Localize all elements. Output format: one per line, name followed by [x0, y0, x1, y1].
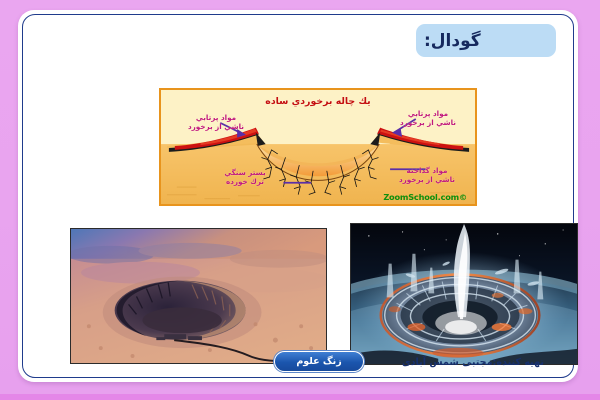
- diagram-label-ejecta-left-line2: ناشي از برخورد: [173, 122, 259, 131]
- diagram-label-molten-material: مواد گداخته ناشي از برخورد: [385, 166, 469, 184]
- diagram-label-ejecta-right-line1: مواد پرتابي: [387, 109, 469, 118]
- diagram-label-melt-line1: مواد گداخته: [385, 166, 469, 175]
- diagram-label-bedrock-line1: بستر سنگي: [203, 168, 287, 177]
- page-title: گودال:: [424, 31, 481, 51]
- science-class-button[interactable]: زنگ علوم: [274, 351, 364, 372]
- diagram-watermark: ©ZoomSchool.com: [383, 192, 467, 202]
- author-credit: تهیه کننده:مجتبی شمس آبادی: [402, 357, 544, 368]
- page-title-pill: گودال:: [416, 24, 556, 57]
- diagram-title: يك چاله برخوردي ساده: [161, 97, 475, 106]
- impact-event-graphic: [351, 224, 577, 365]
- aerial-crater-graphic: [71, 229, 326, 364]
- aerial-impact-crater-photo: [70, 228, 327, 364]
- impact-event-illustration: [350, 223, 578, 365]
- impact-crater-diagram: يك چاله برخوردي ساده مواد پرتابي ناشي از…: [159, 88, 477, 206]
- impact-crater-diagram-graphic: [161, 90, 475, 204]
- diagram-label-ejecta-right-line2: ناشي از برخورد: [387, 118, 469, 127]
- diagram-label-fractured-bedrock: بستر سنگي ترك خورده: [203, 168, 287, 186]
- science-class-button-label: زنگ علوم: [296, 356, 341, 367]
- diagram-label-melt-line2: ناشي از برخورد: [385, 175, 469, 184]
- slide-card: گودال:: [18, 10, 578, 382]
- diagram-label-ejecta-left: مواد پرتابي ناشي از برخورد: [173, 113, 259, 131]
- diagram-label-bedrock-line2: ترك خورده: [203, 177, 287, 186]
- diagram-label-ejecta-right: مواد پرتابي ناشي از برخورد: [387, 109, 469, 127]
- diagram-label-ejecta-left-line1: مواد پرتابي: [173, 113, 259, 122]
- slide-outer-frame: گودال:: [0, 0, 600, 400]
